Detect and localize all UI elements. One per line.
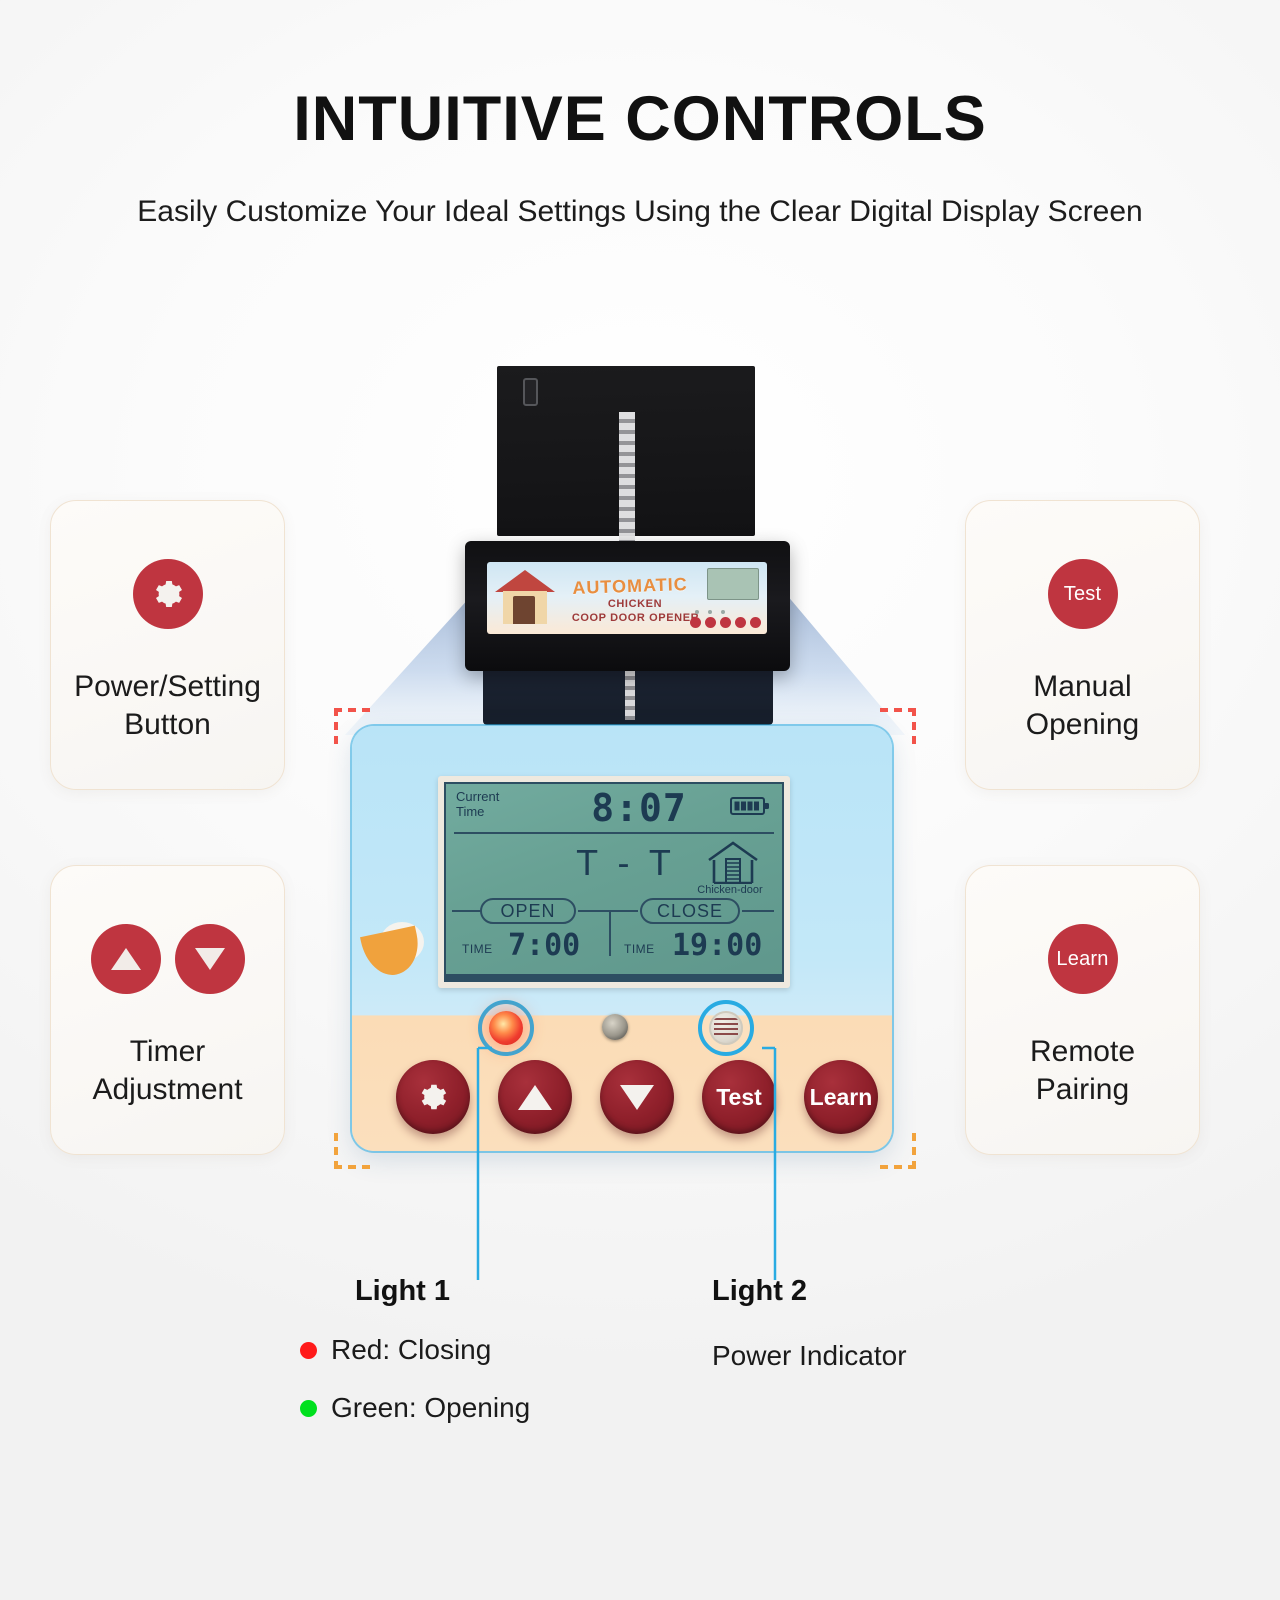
lcd-open-time-value: 7:00 (508, 928, 580, 963)
legend-light-2: Light 2 Power Indicator (712, 1275, 1092, 1372)
bracket-top-left (334, 708, 370, 744)
learn-label-icon: Learn (1048, 924, 1118, 994)
lcd-open-pill: OPEN (480, 898, 576, 924)
device-mini-lcd (707, 568, 759, 600)
bracket-bottom-right (880, 1133, 916, 1169)
lcd-current-time-label: Current Time (456, 790, 499, 819)
callout-card-manual-opening[interactable]: Test Manual Opening (965, 500, 1200, 790)
green-dot-icon (300, 1400, 317, 1417)
learn-icon-text: Learn (1056, 948, 1108, 971)
up-button[interactable] (498, 1060, 572, 1134)
legend-red-text: Red: Closing (331, 1334, 491, 1366)
arrow-up-icon (518, 1085, 552, 1110)
red-dot-icon (300, 1342, 317, 1359)
test-icon-text: Test (1064, 583, 1101, 606)
callout-card-timer-adjustment[interactable]: Timer Adjustment (50, 865, 285, 1155)
lcd-close-time-label: TIME (624, 942, 655, 956)
gear-icon (417, 1081, 449, 1113)
screw-icon (602, 1014, 628, 1040)
callout-label: Manual Opening (1026, 668, 1139, 744)
chicken-graphic-comb (360, 926, 424, 981)
magnified-control-panel: Current Time 8:07 T - T Chicke (352, 726, 892, 1151)
callout-label: Remote Pairing (1030, 1033, 1135, 1109)
legend-light-1-title: Light 1 (300, 1275, 505, 1308)
solar-cell-marker-icon (523, 378, 538, 406)
arrow-down-icon (175, 924, 245, 994)
legend-row-red: Red: Closing (300, 1334, 680, 1366)
battery-full-icon (730, 796, 770, 816)
lcd-current-time-value: 8:07 (564, 786, 714, 830)
gear-icon (133, 559, 203, 629)
learn-button[interactable]: Learn (804, 1060, 878, 1134)
test-label-icon: Test (1048, 559, 1118, 629)
device-mini-buttons[interactable] (690, 617, 761, 628)
lcd-close-pill: CLOSE (640, 898, 740, 924)
callout-icon-wrap (133, 546, 203, 642)
legend-light-2-note: Power Indicator (712, 1340, 1092, 1372)
lcd-open-time-label: TIME (462, 942, 493, 956)
callout-card-power-setting[interactable]: Power/Setting Button (50, 500, 285, 790)
arrow-down-icon (620, 1085, 654, 1110)
down-button[interactable] (600, 1060, 674, 1134)
callout-label: Timer Adjustment (92, 1033, 242, 1109)
callout-icon-wrap: Test (1048, 546, 1118, 642)
legend-light-2-title: Light 2 (712, 1275, 1092, 1308)
lcd-close-time-value: 19:00 (672, 928, 762, 963)
gear-button[interactable] (396, 1060, 470, 1134)
brand-line-1: CHICKEN (565, 598, 705, 610)
lcd-screen-bezel: Current Time 8:07 T - T Chicke (438, 776, 790, 988)
chicken-door-icon (706, 840, 760, 884)
coop-illustration-icon (495, 570, 555, 626)
lcd-current-line1: Current (456, 790, 499, 805)
lcd-screen: Current Time 8:07 T - T Chicke (444, 782, 784, 982)
callout-card-remote-pairing[interactable]: Learn Remote Pairing (965, 865, 1200, 1155)
led-red-indicator (489, 1011, 523, 1045)
light-sensor-icon (709, 1011, 743, 1045)
lcd-divider (454, 832, 774, 834)
callout-label: Power/Setting Button (74, 668, 261, 744)
bracket-bottom-left (334, 1133, 370, 1169)
lcd-center-divider (609, 910, 611, 956)
device-front-label: AUTOMATIC CHICKEN COOP DOOR OPENER (487, 562, 767, 634)
legend-row-green: Green: Opening (300, 1392, 680, 1424)
lcd-current-line2: Time (456, 805, 499, 820)
lcd-mode-value: T - T (546, 842, 706, 884)
lcd-bottom-bar (446, 974, 782, 982)
arrow-up-icon (91, 924, 161, 994)
callout-icon-wrap: Learn (1048, 911, 1118, 1007)
callout-icon-wrap (91, 911, 245, 1007)
lcd-door-label: Chicken-door (684, 884, 776, 896)
legend-green-text: Green: Opening (331, 1392, 530, 1424)
legend-light-1: Light 1 Red: Closing Green: Opening (300, 1275, 680, 1424)
test-button[interactable]: Test (702, 1060, 776, 1134)
bracket-top-right (880, 708, 916, 744)
device-mini-indicators (695, 610, 725, 614)
